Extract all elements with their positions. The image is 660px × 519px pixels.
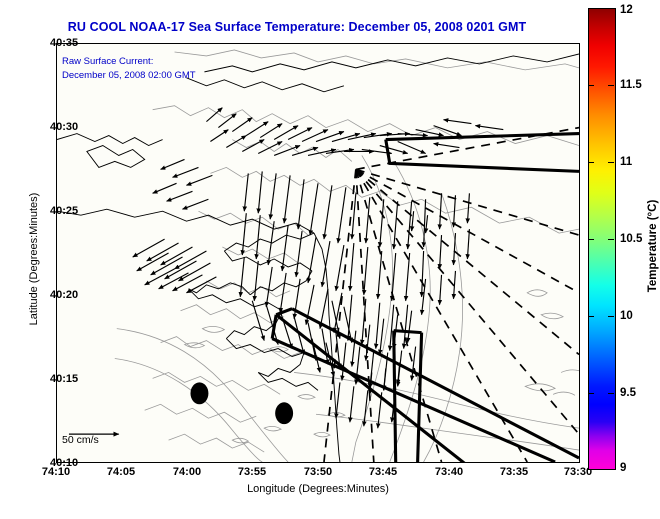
y-axis-label: Latitude (Degrees:Minutes) bbox=[28, 139, 40, 379]
radial-dashed-lines bbox=[324, 128, 579, 462]
xtick-1: 74:05 bbox=[107, 466, 135, 478]
xtick-3: 73:55 bbox=[238, 466, 266, 478]
annotation-line-2: December 05, 2008 02:00 GMT bbox=[62, 70, 196, 81]
xtick-5: 73:45 bbox=[369, 466, 397, 478]
colorbar-tick-10.5: 10.5 bbox=[620, 233, 642, 245]
map-graphic bbox=[57, 44, 579, 462]
colorbar-tick-9.5: 9.5 bbox=[620, 387, 636, 399]
colorbar-label: Temperature (°C) bbox=[647, 176, 659, 316]
ytick-4: 40:15 bbox=[50, 373, 78, 385]
ytick-3: 40:20 bbox=[50, 289, 78, 301]
coastline bbox=[57, 54, 579, 462]
station-markers bbox=[190, 382, 293, 424]
figure-canvas: RU COOL NOAA-17 Sea Surface Temperature:… bbox=[0, 0, 660, 519]
surface-current-vectors bbox=[133, 108, 504, 428]
station-marker bbox=[275, 402, 293, 424]
xtick-4: 73:50 bbox=[304, 466, 332, 478]
x-axis-label: Longitude (Degrees:Minutes) bbox=[56, 483, 580, 495]
ytick-1: 40:30 bbox=[50, 121, 78, 133]
page-title: RU COOL NOAA-17 Sea Surface Temperature:… bbox=[0, 20, 594, 34]
colorbar-tick-10: 10 bbox=[620, 310, 633, 322]
station-marker bbox=[190, 382, 208, 404]
colorbar-tick-9: 9 bbox=[620, 462, 626, 474]
annotation-line-1: Raw Surface Current: bbox=[62, 56, 153, 67]
xtick-7: 73:35 bbox=[500, 466, 528, 478]
colorbar-tick-12: 12 bbox=[620, 4, 633, 16]
ytick-5: 40:10 bbox=[50, 457, 78, 469]
colorbar-tick-11: 11 bbox=[620, 156, 632, 168]
xtick-2: 74:00 bbox=[173, 466, 201, 478]
xtick-6: 73:40 bbox=[435, 466, 463, 478]
scale-legend-label: 50 cm/s bbox=[62, 434, 99, 446]
colorbar-tick-11.5: 11.5 bbox=[620, 79, 642, 91]
ytick-2: 40:25 bbox=[50, 205, 78, 217]
map-plot-area bbox=[56, 43, 580, 463]
ytick-0: 40:35 bbox=[50, 37, 78, 49]
